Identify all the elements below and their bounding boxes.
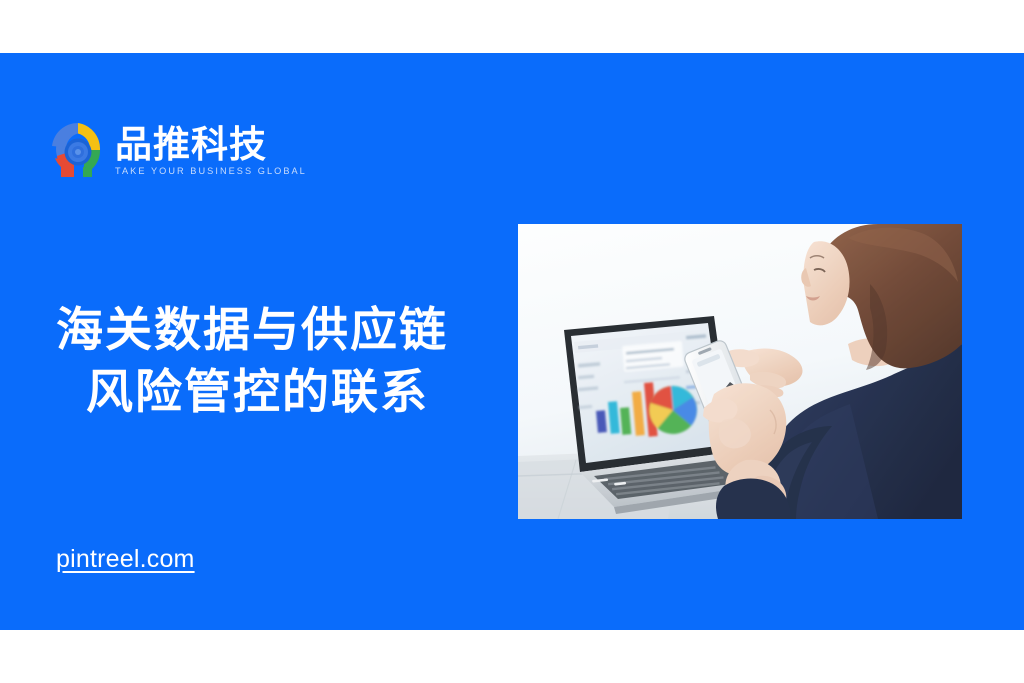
brand-logo[interactable]: 品推科技 TAKE YOUR BUSINESS GLOBAL <box>50 121 307 179</box>
page-title-line-2: 风险管控的联系 <box>56 362 476 424</box>
page-title-line-1: 海关数据与供应链 <box>56 300 476 362</box>
hero-photo <box>518 224 962 519</box>
pintreel-circular-p-mark-icon <box>50 121 106 179</box>
page-title: 海关数据与供应链 风险管控的联系 <box>56 300 476 424</box>
blog-banner: 品推科技 TAKE YOUR BUSINESS GLOBAL 海关数据与供应链 … <box>0 0 1024 683</box>
brand-logo-text: 品推科技 TAKE YOUR BUSINESS GLOBAL <box>115 124 307 177</box>
brand-tagline: TAKE YOUR BUSINESS GLOBAL <box>115 166 307 176</box>
hero-photo-illustration <box>518 224 962 519</box>
site-url-link[interactable]: pintreel.com <box>56 545 195 574</box>
brand-name: 品推科技 <box>115 126 307 164</box>
blue-stage: 品推科技 TAKE YOUR BUSINESS GLOBAL 海关数据与供应链 … <box>0 53 1024 630</box>
